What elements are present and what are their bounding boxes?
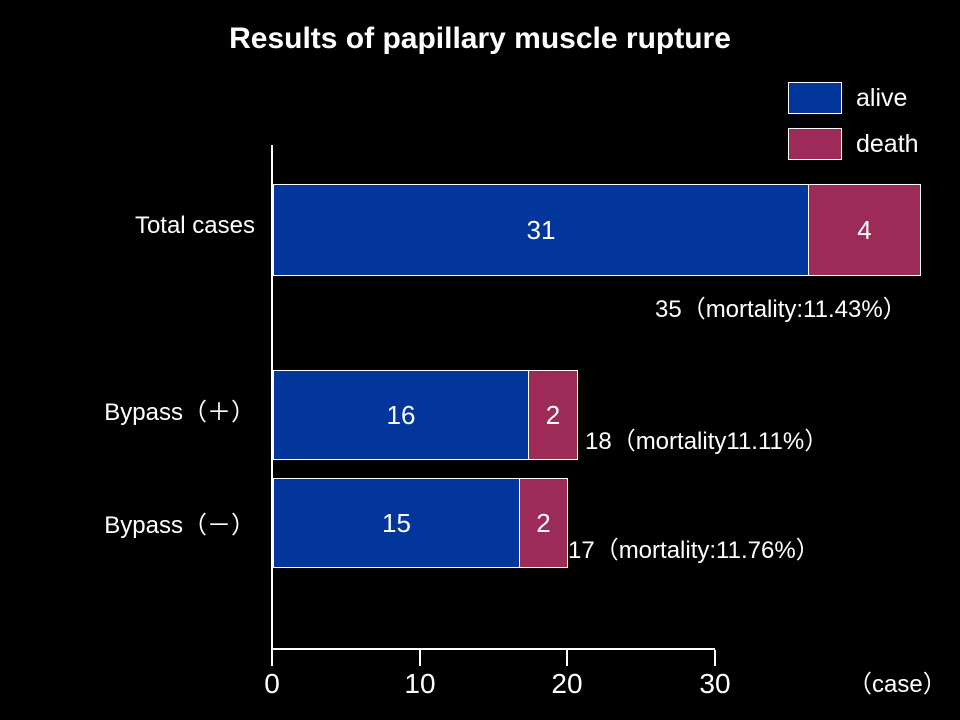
x-tick-label-0: 0 [242, 668, 302, 700]
x-tick-mark-20 [566, 650, 568, 666]
bar-value-death-total-cases: 4 [857, 217, 871, 243]
x-tick-label-30: 30 [685, 668, 745, 700]
bar-total-annotation-bypass-minus: 17（mortality:11.76%） [568, 530, 820, 565]
bar-value-death-bypass-plus: 2 [546, 402, 560, 428]
bar-value-alive-bypass-plus: 16 [387, 402, 416, 428]
bar-segment-alive-total-cases[interactable]: 31 [273, 184, 809, 276]
bar-row-bypass-minus[interactable]: 15 2 [273, 478, 568, 568]
bar-segment-alive-bypass-minus[interactable]: 15 [273, 478, 520, 568]
category-label-total-cases: Total cases [95, 212, 255, 240]
bar-value-alive-total-cases: 31 [527, 217, 556, 243]
x-tick-mark-30 [714, 650, 716, 666]
bar-total-annotation-bypass-plus: 18（mortality11.11%） [585, 421, 828, 456]
category-label-bypass-minus: Bypass（－） [80, 505, 255, 540]
x-tick-label-10: 10 [390, 668, 450, 700]
slide-canvas: Results of papillary muscle rupture aliv… [0, 0, 960, 720]
x-tick-label-20: 20 [537, 668, 597, 700]
bar-value-alive-bypass-minus: 15 [382, 510, 411, 536]
x-tick-mark-0 [271, 650, 273, 666]
category-label-bypass-plus: Bypass（＋） [80, 392, 255, 427]
bar-total-annotation-total-cases: 35（mortality:11.43%） [655, 289, 907, 324]
bar-segment-death-total-cases[interactable]: 4 [808, 184, 921, 276]
bar-value-death-bypass-minus: 2 [536, 510, 550, 536]
bar-segment-death-bypass-plus[interactable]: 2 [528, 370, 578, 460]
x-axis-unit-label: （case） [848, 664, 947, 699]
plot-area: 0 10 20 30 （case） Total cases 31 4 35（mo… [0, 0, 960, 720]
bar-segment-death-bypass-minus[interactable]: 2 [519, 478, 568, 568]
x-tick-mark-10 [419, 650, 421, 666]
bar-segment-alive-bypass-plus[interactable]: 16 [273, 370, 529, 460]
bar-row-total-cases[interactable]: 31 4 [273, 184, 921, 276]
bar-row-bypass-plus[interactable]: 16 2 [273, 370, 578, 460]
x-axis-line [271, 648, 715, 650]
